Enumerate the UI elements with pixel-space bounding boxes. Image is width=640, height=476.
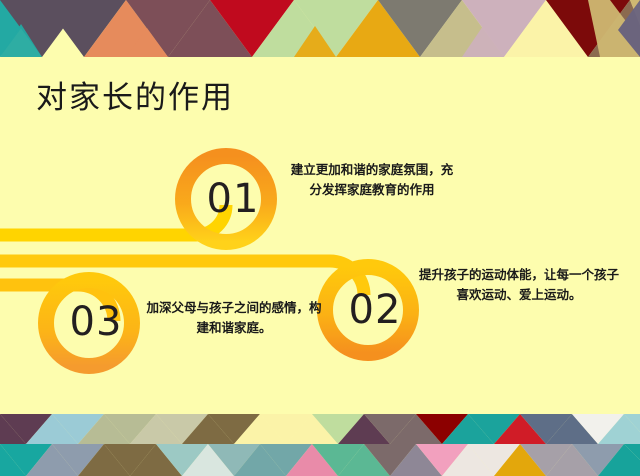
step-text-03: 加深父母与孩子之间的感情，构建和谐家庭。 [142,298,326,338]
step-number-03: 03 [51,299,141,345]
step-text-02: 提升孩子的运动体能，让每一个孩子喜欢运动、爱上运动。 [414,265,624,305]
triangle-pattern-top [0,0,640,57]
slide-canvas: 对家长的作用 [0,0,640,476]
step-number-02: 02 [330,287,420,333]
step-number-01: 01 [188,176,278,222]
snaking-ribbon-graphic [0,57,640,400]
step-text-01: 建立更加和谐的家庭氛围，充分发挥家庭教育的作用 [288,160,456,200]
triangle-pattern-bottom [0,400,640,476]
